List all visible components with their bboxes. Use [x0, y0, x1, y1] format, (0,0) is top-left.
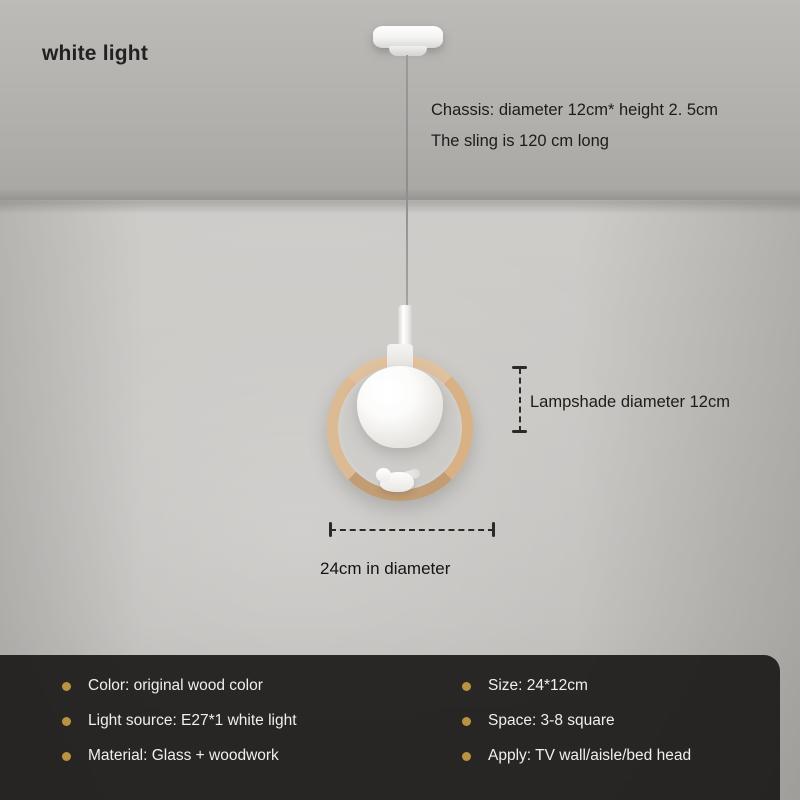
spec-item-label: Size: 24*12cm	[488, 677, 588, 694]
suspension-wire	[406, 55, 408, 310]
spec-item-light-source: Light source: E27*1 white light	[62, 712, 442, 730]
chassis-spec-line-2: The sling is 120 cm long	[431, 132, 609, 151]
spec-item-material: Material: Glass + woodwork	[62, 747, 442, 765]
spec-item-color: Color: original wood color	[62, 677, 442, 695]
specification-panel: Color: original wood color Light source:…	[0, 655, 780, 800]
ring-measure-cap-right	[492, 522, 495, 537]
chassis-spec-line-1: Chassis: diameter 12cm* height 2. 5cm	[431, 101, 718, 120]
bullet-dot-icon	[62, 717, 71, 726]
bird-head	[376, 468, 391, 482]
lampshade-highlight	[362, 372, 414, 412]
spec-item-apply: Apply: TV wall/aisle/bed head	[462, 747, 782, 765]
spec-column-right: Size: 24*12cm Space: 3-8 square Apply: T…	[462, 677, 782, 782]
variant-title: white light	[42, 42, 148, 66]
bullet-dot-icon	[62, 752, 71, 761]
spec-item-label: Material: Glass + woodwork	[88, 747, 279, 764]
lampshade-measure-line	[519, 368, 521, 432]
spec-column-left: Color: original wood color Light source:…	[62, 677, 442, 782]
ring-diameter-label: 24cm in diameter	[320, 559, 450, 579]
spec-item-space: Space: 3-8 square	[462, 712, 782, 730]
ceiling-wall-shadow	[0, 188, 800, 214]
bullet-dot-icon	[462, 752, 471, 761]
lampshade-measure-cap-bottom	[512, 430, 527, 433]
bird-ornament	[374, 466, 418, 496]
ceiling-canopy	[373, 26, 443, 48]
product-photo-scene: white light Chassis: diameter 12cm* heig…	[0, 0, 800, 800]
spec-item-label: Apply: TV wall/aisle/bed head	[488, 747, 691, 764]
bullet-dot-icon	[462, 682, 471, 691]
bullet-dot-icon	[462, 717, 471, 726]
spec-item-size: Size: 24*12cm	[462, 677, 782, 695]
bullet-dot-icon	[62, 682, 71, 691]
spec-item-label: Light source: E27*1 white light	[88, 712, 297, 729]
wire-cap-connector	[398, 305, 413, 345]
canopy-cap	[389, 46, 427, 56]
spec-item-label: Color: original wood color	[88, 677, 263, 694]
spec-item-label: Space: 3-8 square	[488, 712, 615, 729]
ring-measure-line	[330, 529, 494, 531]
lampshade-diameter-label: Lampshade diameter 12cm	[530, 393, 730, 412]
